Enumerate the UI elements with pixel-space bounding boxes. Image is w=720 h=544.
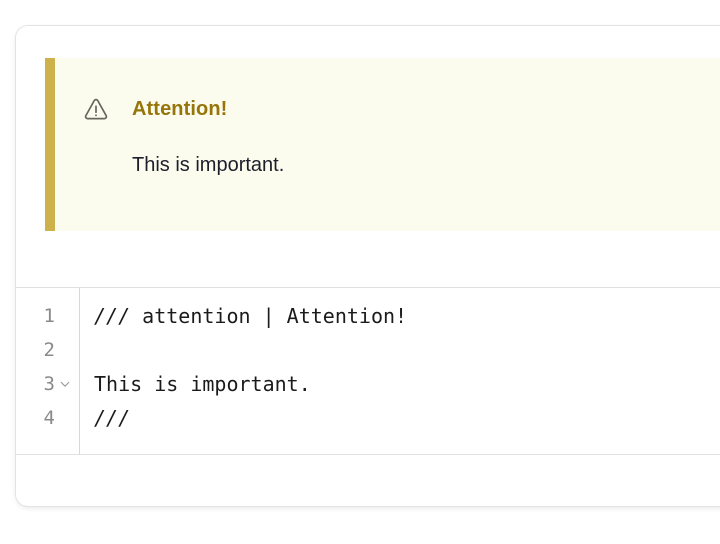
code-line: This is important.: [94, 367, 720, 401]
line-number: 2: [44, 341, 55, 360]
warning-triangle-icon: [83, 96, 109, 122]
code-fence-token: ///: [94, 408, 130, 428]
line-number: 3: [44, 375, 55, 394]
editor-gutter: 1 2 3 4: [16, 288, 80, 454]
source-editor-pane[interactable]: 1 2 3 4 /// attention: [16, 288, 720, 455]
admonition-title-row: Attention!: [55, 58, 720, 122]
admonition-title: Attention!: [132, 99, 227, 119]
gutter-row: 2: [16, 333, 79, 367]
admonition-body: This is important.: [55, 122, 720, 179]
line-number: 1: [44, 307, 55, 326]
gutter-row: 3: [16, 367, 79, 401]
code-fence-token: ///: [94, 306, 130, 326]
code-line: ///: [94, 401, 720, 435]
card-footer: [16, 455, 720, 505]
editor-code-area[interactable]: /// attention | Attention! This is impor…: [80, 288, 720, 454]
gutter-row: 1: [16, 299, 79, 333]
code-line: [94, 333, 720, 367]
preview-card: Attention! This is important. 1 2 3: [15, 25, 720, 507]
admonition-attention: Attention! This is important.: [45, 58, 720, 231]
gutter-row: 4: [16, 401, 79, 435]
rendered-preview-pane: Attention! This is important.: [16, 26, 720, 288]
code-line: /// attention | Attention!: [94, 299, 720, 333]
chevron-down-icon[interactable]: [57, 378, 73, 390]
line-number: 4: [44, 409, 55, 428]
code-text: attention | Attention!: [130, 306, 407, 326]
code-text: This is important.: [94, 374, 311, 394]
